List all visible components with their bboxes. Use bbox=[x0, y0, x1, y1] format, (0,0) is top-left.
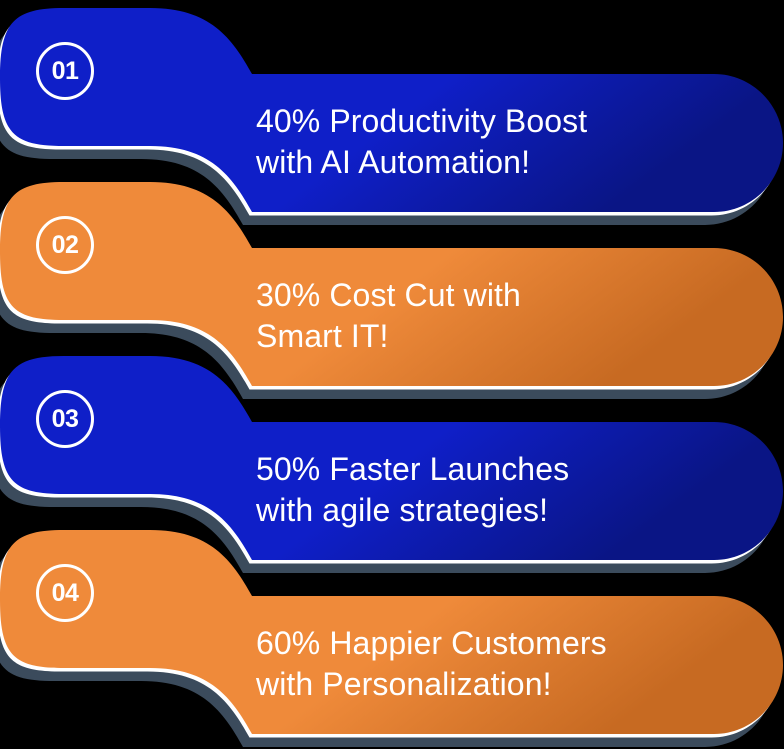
number-badge-label: 01 bbox=[52, 59, 79, 84]
banner-04[interactable]: 0460% Happier Customerswith Personalizat… bbox=[0, 522, 784, 749]
banner-headline: 60% Happier Customerswith Personalizatio… bbox=[256, 623, 607, 705]
headline-line-1: 30% Cost Cut with bbox=[256, 275, 521, 316]
number-badge-03: 03 bbox=[36, 390, 94, 448]
number-badge-04: 04 bbox=[36, 564, 94, 622]
infographic-canvas: 0140% Productivity Boostwith AI Automati… bbox=[0, 0, 784, 749]
headline-line-1: 60% Happier Customers bbox=[256, 623, 607, 664]
number-badge-01: 01 bbox=[36, 42, 94, 100]
number-badge-label: 04 bbox=[52, 581, 79, 606]
headline-line-1: 50% Faster Launches bbox=[256, 449, 569, 490]
headline-line-1: 40% Productivity Boost bbox=[256, 101, 587, 142]
headline-line-2: with Personalization! bbox=[256, 664, 607, 705]
number-badge-label: 02 bbox=[52, 233, 79, 258]
banner-headline: 30% Cost Cut withSmart IT! bbox=[256, 275, 521, 357]
number-badge-label: 03 bbox=[52, 407, 79, 432]
banner-headline: 50% Faster Launcheswith agile strategies… bbox=[256, 449, 569, 531]
banner-headline: 40% Productivity Boostwith AI Automation… bbox=[256, 101, 587, 183]
number-badge-02: 02 bbox=[36, 216, 94, 274]
